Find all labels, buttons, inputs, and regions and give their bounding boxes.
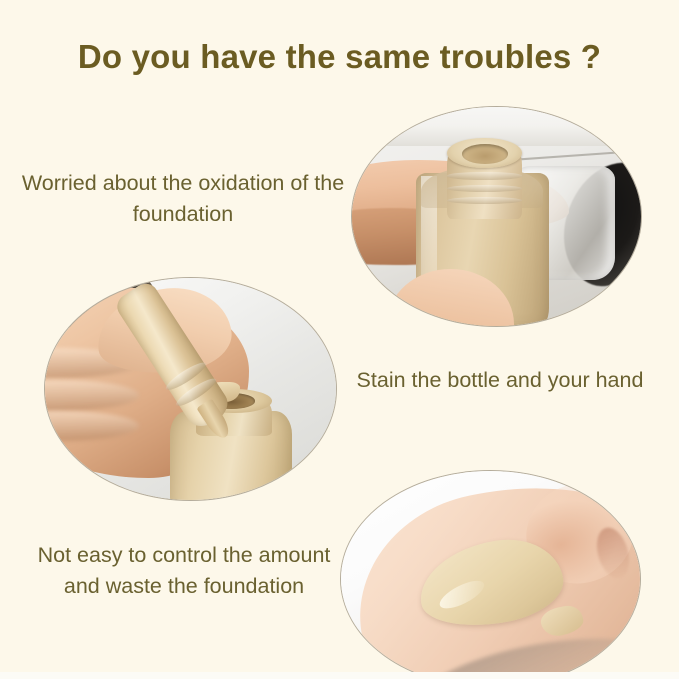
bottom-band — [0, 672, 679, 679]
promo-graphic: Do you have the same troubles ? Worried … — [0, 0, 679, 679]
neck-thread — [447, 185, 522, 192]
photo-dropper-over-bottle — [45, 278, 336, 500]
neck-thread — [447, 197, 522, 204]
knuckle-crease — [45, 411, 139, 442]
caption-oxidation: Worried about the oxidation of the found… — [8, 168, 358, 229]
knuckle-crease — [45, 380, 139, 411]
photo-dropper-over-bottle-scene — [45, 278, 336, 500]
photo-foundation-swatch-on-hand — [341, 471, 640, 679]
photo-foundation-swatch-scene — [341, 471, 640, 679]
photo-open-foundation-bottle-scene — [352, 107, 641, 326]
page-title: Do you have the same troubles ? — [0, 38, 679, 76]
bottle-opening — [462, 144, 508, 164]
caption-control: Not easy to control the amount and waste… — [24, 540, 344, 601]
caption-stain: Stain the bottle and your hand — [355, 365, 645, 396]
neck-thread — [447, 172, 522, 179]
photo-open-foundation-bottle — [352, 107, 641, 326]
